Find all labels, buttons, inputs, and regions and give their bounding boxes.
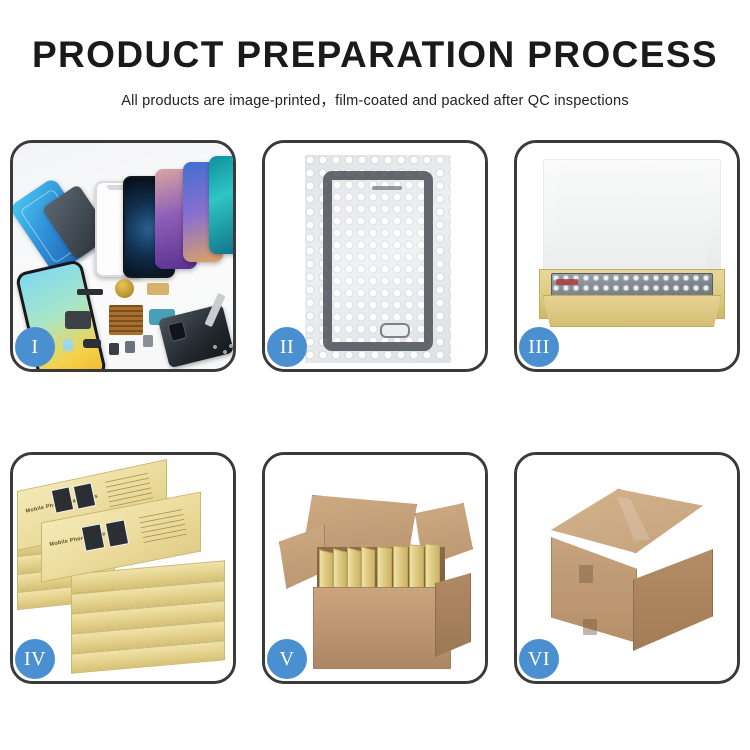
steps-grid: I II III <box>0 140 750 700</box>
step-numeral-3: III <box>528 336 549 359</box>
earpiece-slot <box>372 186 402 190</box>
carton-handle-tab-bottom <box>583 619 597 635</box>
step-numeral-4: IV <box>24 648 46 671</box>
page-title: PRODUCT PREPARATION PROCESS <box>0 0 750 75</box>
step-badge-2: II <box>267 327 307 367</box>
carton-front-face <box>313 587 451 669</box>
step-panel-3[interactable]: III <box>514 140 740 372</box>
teal-phone-screen <box>209 156 233 254</box>
home-button-cutout <box>380 323 410 338</box>
carton-side-face <box>435 573 471 657</box>
white-foam-lid <box>543 159 721 279</box>
wrapped-screen-plate <box>323 171 433 351</box>
carton-handle-tab-top <box>579 565 593 583</box>
step-panel-6[interactable]: VI <box>514 452 740 684</box>
step-badge-1: I <box>15 327 55 367</box>
packed-box-6 <box>393 545 408 593</box>
packed-box-7 <box>409 544 424 592</box>
small-part-2 <box>109 343 119 355</box>
product-preparation-infographic: PRODUCT PREPARATION PROCESS All products… <box>0 0 750 750</box>
step-panel-1[interactable]: I <box>10 140 236 372</box>
flex-cable-left <box>65 311 91 329</box>
connector-bar-part <box>77 289 103 295</box>
screws-group <box>211 343 233 359</box>
sealed-carton-right-face <box>633 549 713 651</box>
battery-connector-part <box>83 339 101 348</box>
header: PRODUCT PREPARATION PROCESS All products… <box>0 0 750 110</box>
step-badge-4: IV <box>15 639 55 679</box>
small-part-3 <box>125 341 135 353</box>
small-part-1 <box>63 339 73 351</box>
step-numeral-1: I <box>31 336 38 359</box>
step-numeral-2: II <box>280 336 294 359</box>
step-numeral-6: VI <box>528 648 550 671</box>
step-panel-2[interactable]: II <box>262 140 488 372</box>
step-panel-5[interactable]: V <box>262 452 488 684</box>
step-panel-4[interactable]: Mobile Phone Spare Parts Mobile Phone Sp… <box>10 452 236 684</box>
kraft-box-front <box>543 295 721 327</box>
gold-flex-cable <box>147 283 169 295</box>
page-subtitle: All products are image-printed，film-coat… <box>0 75 750 110</box>
step-badge-6: VI <box>519 639 559 679</box>
copper-chip-part <box>109 305 143 335</box>
speaker-coil-part <box>115 279 134 298</box>
step-badge-3: III <box>519 327 559 367</box>
step-badge-5: V <box>267 639 307 679</box>
small-part-4 <box>143 335 153 347</box>
step-numeral-5: V <box>280 648 295 671</box>
